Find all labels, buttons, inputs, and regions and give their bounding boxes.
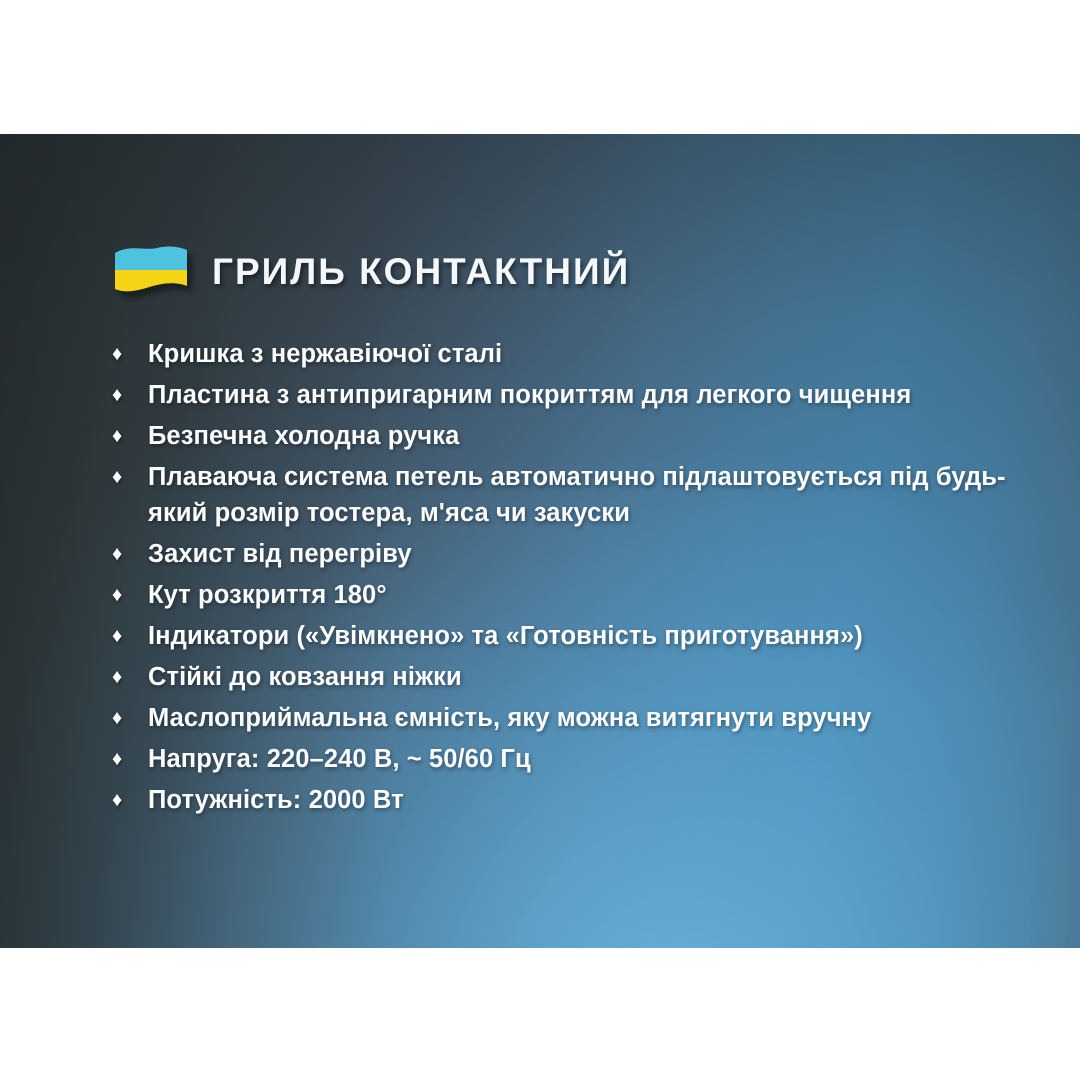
list-item: ♦ Маслоприймальна ємність, яку можна вит… xyxy=(112,700,1012,736)
list-item: ♦ Стійкі до ковзання ніжки xyxy=(112,659,1012,695)
diamond-bullet-icon: ♦ xyxy=(112,536,148,572)
diamond-bullet-icon: ♦ xyxy=(112,700,148,736)
list-item-label: Кришка з нержавіючої сталі xyxy=(148,336,1012,372)
heading-row: ГРИЛЬ КОНТАКТНИЙ xyxy=(112,244,630,300)
diamond-bullet-icon: ♦ xyxy=(112,418,148,454)
diamond-bullet-icon: ♦ xyxy=(112,377,148,413)
list-item-label: Кут розкриття 180° xyxy=(148,577,1012,613)
diamond-bullet-icon: ♦ xyxy=(112,336,148,372)
list-item: ♦ Пластина з антипригарним покриттям для… xyxy=(112,377,1012,413)
list-item-label: Індикатори («Увімкнено» та «Готовність п… xyxy=(148,618,1012,654)
list-item: ♦ Кришка з нержавіючої сталі xyxy=(112,336,1012,372)
list-item: ♦ Потужність: 2000 Вт xyxy=(112,782,1012,818)
list-item-label: Захист від перегріву xyxy=(148,536,1012,572)
diamond-bullet-icon: ♦ xyxy=(112,741,148,777)
list-item-label: Безпечна холодна ручка xyxy=(148,418,1012,454)
diamond-bullet-icon: ♦ xyxy=(112,618,148,654)
list-item: ♦ Безпечна холодна ручка xyxy=(112,418,1012,454)
diamond-bullet-icon: ♦ xyxy=(112,782,148,818)
diamond-bullet-icon: ♦ xyxy=(112,459,148,495)
diamond-bullet-icon: ♦ xyxy=(112,577,148,613)
list-item-label: Плаваюча система петель автоматично підл… xyxy=(148,459,1012,531)
list-item-label: Маслоприймальна ємність, яку можна витяг… xyxy=(148,700,1012,736)
list-item-label: Пластина з антипригарним покриттям для л… xyxy=(148,377,1012,413)
slide-frame: ГРИЛЬ КОНТАКТНИЙ ♦ Кришка з нержавіючої … xyxy=(0,0,1080,1080)
list-item: ♦ Напруга: 220–240 В, ~ 50/60 Гц xyxy=(112,741,1012,777)
page-title: ГРИЛЬ КОНТАКТНИЙ xyxy=(212,251,630,293)
list-item: ♦ Захист від перегріву xyxy=(112,536,1012,572)
list-item: ♦ Плаваюча система петель автоматично пі… xyxy=(112,459,1012,531)
list-item: ♦ Індикатори («Увімкнено» та «Готовність… xyxy=(112,618,1012,654)
list-item-label: Напруга: 220–240 В, ~ 50/60 Гц xyxy=(148,741,1012,777)
diamond-bullet-icon: ♦ xyxy=(112,659,148,695)
slide-canvas: ГРИЛЬ КОНТАКТНИЙ ♦ Кришка з нержавіючої … xyxy=(0,134,1080,948)
list-item-label: Потужність: 2000 Вт xyxy=(148,782,1012,818)
feature-list: ♦ Кришка з нержавіючої сталі ♦ Пластина … xyxy=(112,336,1012,823)
list-item-label: Стійкі до ковзання ніжки xyxy=(148,659,1012,695)
ukraine-flag-icon xyxy=(112,244,190,300)
list-item: ♦ Кут розкриття 180° xyxy=(112,577,1012,613)
slide-content: ГРИЛЬ КОНТАКТНИЙ ♦ Кришка з нержавіючої … xyxy=(0,134,1080,948)
